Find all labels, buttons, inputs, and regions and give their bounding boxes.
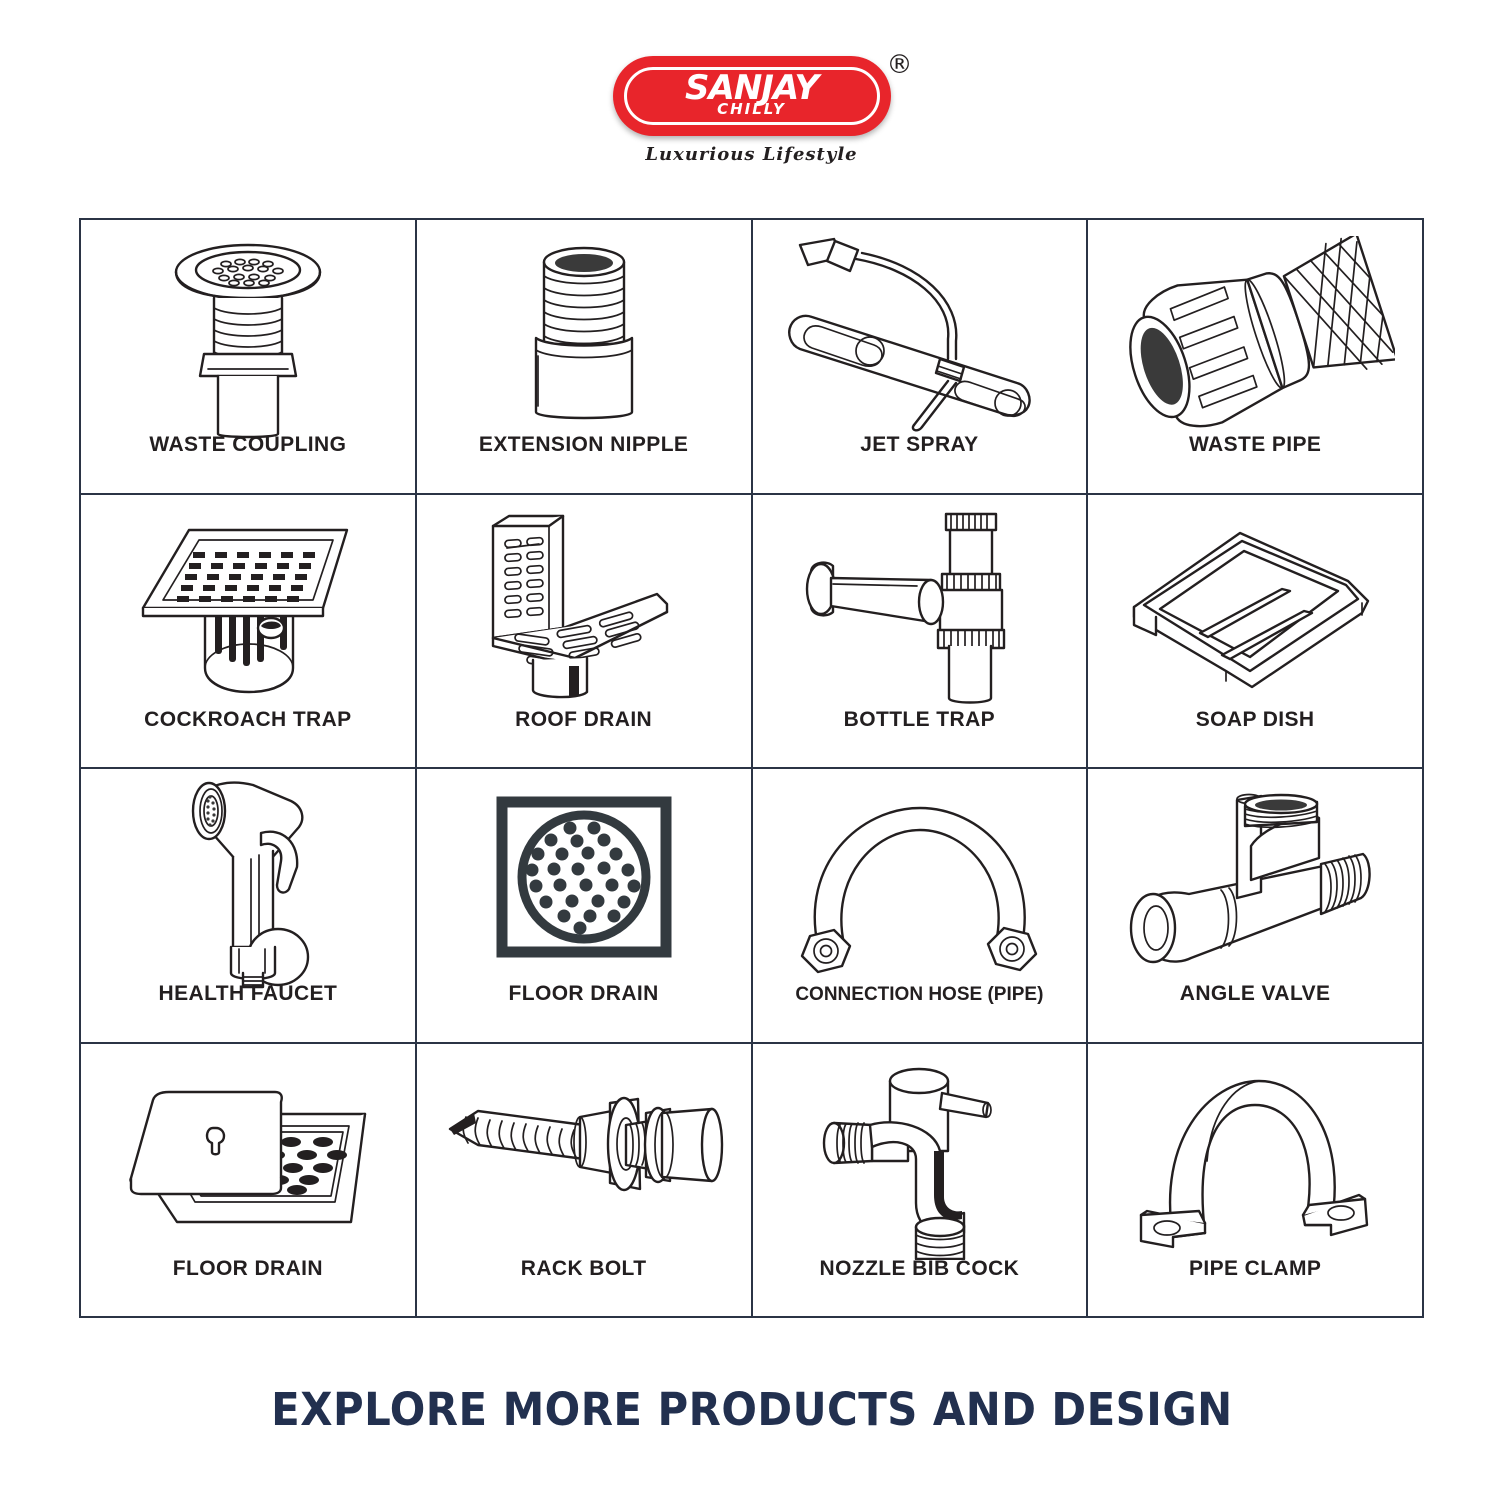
rack-bolt-icon [423,1058,745,1257]
roof-drain-icon [423,509,745,708]
bottle-trap-icon [759,509,1081,708]
product-label: FLOOR DRAIN [509,982,659,1031]
connection-hose-icon [759,783,1081,985]
product-label: WASTE PIPE [1189,433,1321,482]
waste-coupling-icon [87,234,409,433]
catalog-page: SANJAY CHILLY ® Luxurious Lifestyle [0,0,1503,1503]
logo-brand-subname: CHILLY [717,102,786,117]
brand-tagline: Luxurious Lifestyle [645,144,857,165]
product-cell-pipe-clamp[interactable]: PIPE CLAMP [1088,1044,1424,1319]
angle-valve-icon [1094,783,1416,982]
product-label: FLOOR DRAIN [173,1257,323,1306]
product-label: EXTENSION NIPPLE [479,433,688,482]
floor-drain-cover-icon [87,1058,409,1257]
product-cell-connection-hose[interactable]: CONNECTION HOSE (PIPE) [753,769,1089,1044]
nozzle-bib-cock-icon [759,1058,1081,1257]
header: SANJAY CHILLY ® Luxurious Lifestyle [3,3,1500,218]
product-cell-roof-drain[interactable]: ROOF DRAIN [417,495,753,770]
waste-pipe-icon [1094,234,1416,433]
product-label: COCKROACH TRAP [144,708,351,757]
product-cell-extension-nipple[interactable]: EXTENSION NIPPLE [417,220,753,495]
floor-drain-round-icon [423,783,745,982]
product-label: HEALTH FAUCET [159,982,338,1031]
logo-brand-name: SANJAY [685,73,818,103]
logo-pill: SANJAY CHILLY ® [613,56,891,136]
product-label: WASTE COUPLING [149,433,346,482]
pipe-clamp-icon [1094,1058,1416,1257]
product-label: BOTTLE TRAP [844,708,995,757]
product-label: SOAP DISH [1196,708,1315,757]
logo-pill-inner: SANJAY CHILLY [624,67,880,125]
product-cell-waste-coupling[interactable]: WASTE COUPLING [81,220,417,495]
product-grid: WASTE COUPLING [79,218,1424,1318]
product-cell-floor-drain-cover[interactable]: FLOOR DRAIN [81,1044,417,1319]
product-cell-soap-dish[interactable]: SOAP DISH [1088,495,1424,770]
product-cell-angle-valve[interactable]: ANGLE VALVE [1088,769,1424,1044]
product-label: ROOF DRAIN [515,708,652,757]
product-cell-floor-drain-round[interactable]: FLOOR DRAIN [417,769,753,1044]
product-label: ANGLE VALVE [1180,982,1331,1031]
registered-trademark-icon: ® [887,52,913,78]
footer-headline: EXPLORE MORE PRODUCTS AND DESIGN [271,1383,1232,1436]
product-cell-jet-spray[interactable]: JET SPRAY [753,220,1089,495]
product-label: RACK BOLT [521,1257,647,1306]
extension-nipple-icon [423,234,745,433]
product-cell-cockroach-trap[interactable]: COCKROACH TRAP [81,495,417,770]
product-label: JET SPRAY [860,433,978,482]
cockroach-trap-icon [87,509,409,708]
product-cell-waste-pipe[interactable]: WASTE PIPE [1088,220,1424,495]
product-label: CONNECTION HOSE (PIPE) [795,985,1043,1032]
brand-logo: SANJAY CHILLY ® Luxurious Lifestyle [602,56,902,165]
product-cell-bottle-trap[interactable]: BOTTLE TRAP [753,495,1089,770]
product-cell-health-faucet[interactable]: HEALTH FAUCET [81,769,417,1044]
footer: EXPLORE MORE PRODUCTS AND DESIGN [3,1318,1500,1500]
product-label: PIPE CLAMP [1189,1257,1321,1306]
product-cell-nozzle-bib-cock[interactable]: NOZZLE BIB COCK [753,1044,1089,1319]
product-cell-rack-bolt[interactable]: RACK BOLT [417,1044,753,1319]
health-faucet-icon [87,783,409,982]
jet-spray-icon [759,234,1081,433]
soap-dish-icon [1094,509,1416,708]
product-label: NOZZLE BIB COCK [820,1257,1020,1306]
